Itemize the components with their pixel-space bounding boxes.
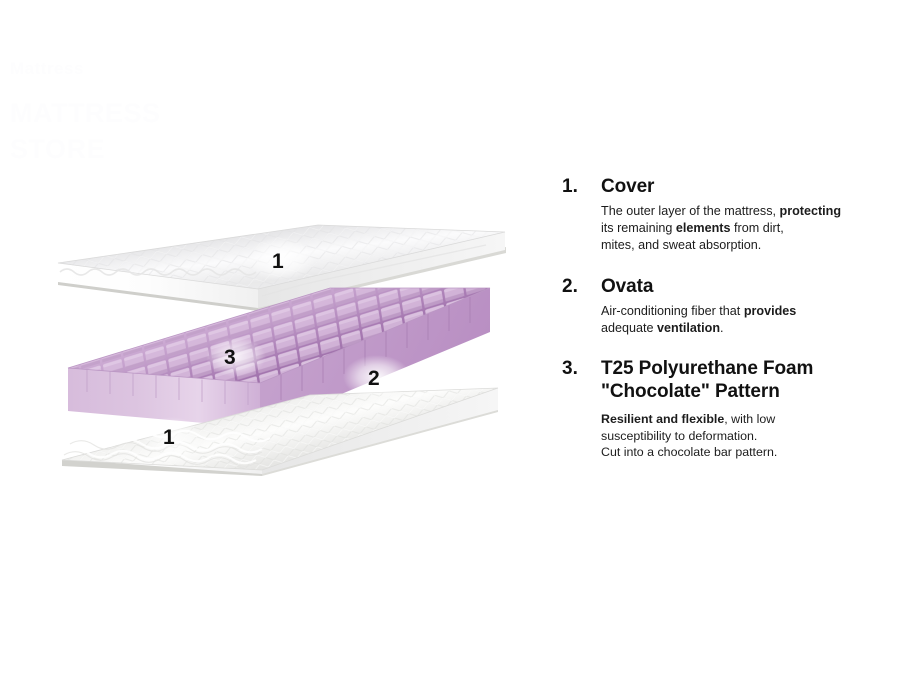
legend-item-foam: 3. T25 Polyurethane Foam"Chocolate" Patt…	[555, 358, 890, 460]
legend-title-ovata: Ovata	[601, 276, 890, 298]
diagram-label-top-cover: 1	[272, 251, 284, 272]
legend-desc-foam: Resilient and flexible, with lowsuscepti…	[601, 411, 890, 461]
legend-index-1: 1.	[562, 176, 578, 197]
legend-title-cover: Cover	[601, 176, 890, 198]
legend-body-1: Cover The outer layer of the mattress, p…	[555, 176, 890, 254]
legend-title-foam: T25 Polyurethane Foam"Chocolate" Pattern	[601, 358, 890, 403]
legend-body-3: T25 Polyurethane Foam"Chocolate" Pattern…	[555, 358, 890, 460]
legend-body-2: Ovata Air-conditioning fiber that provid…	[555, 276, 890, 337]
diagram-label-bottom-cover: 1	[163, 427, 175, 448]
legend-index-2: 2.	[562, 276, 578, 297]
mattress-diagram-svg	[0, 0, 545, 675]
mattress-diagram: 1 3 2 1	[0, 0, 545, 675]
layer-description-panel: 1. Cover The outer layer of the mattress…	[555, 176, 890, 461]
mattress-layers-infographic: Mattress MATTRESS STORE	[0, 0, 900, 675]
legend-index-3: 3.	[562, 358, 578, 379]
diagram-label-ovata-fiber: 2	[368, 368, 380, 389]
legend-desc-ovata: Air-conditioning fiber that providesadeq…	[601, 303, 890, 336]
diagram-label-foam-core: 3	[224, 347, 236, 368]
legend-item-ovata: 2. Ovata Air-conditioning fiber that pro…	[555, 276, 890, 337]
legend-item-cover: 1. Cover The outer layer of the mattress…	[555, 176, 890, 254]
legend-desc-cover: The outer layer of the mattress, protect…	[601, 203, 890, 253]
